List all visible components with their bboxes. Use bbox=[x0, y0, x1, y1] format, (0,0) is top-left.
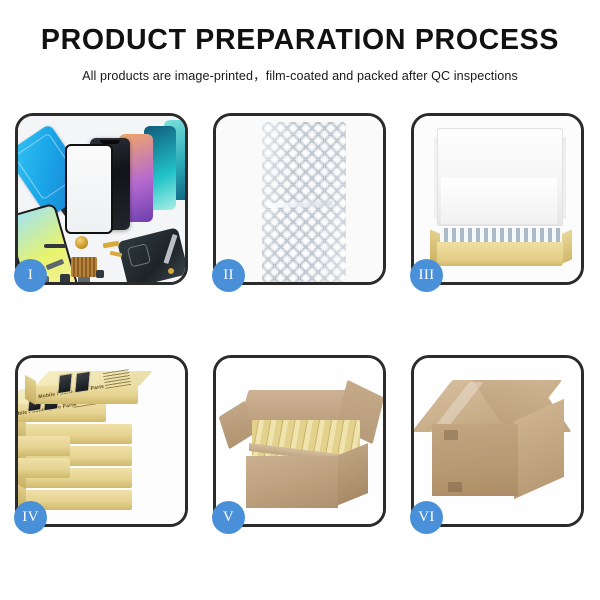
gold-flex-part bbox=[103, 241, 120, 249]
small-part-c bbox=[168, 268, 174, 274]
small-part-a bbox=[96, 270, 104, 278]
process-step-grid: I II III bbox=[15, 113, 585, 527]
step-badge-6: VI bbox=[410, 501, 443, 534]
box-artwork-screen bbox=[57, 373, 73, 395]
step-3-image bbox=[414, 116, 581, 282]
box-top-face bbox=[35, 371, 153, 386]
page-subtitle: All products are image-printed，film-coat… bbox=[0, 65, 600, 84]
speaker-part bbox=[75, 236, 88, 249]
box-artwork-screen bbox=[74, 371, 91, 394]
carton-front-face bbox=[246, 456, 338, 508]
stacked-box-labeled: Mobile Phone Spare Parts bbox=[34, 384, 138, 404]
step-badge-1: I bbox=[14, 259, 47, 292]
step-1-image bbox=[18, 116, 185, 282]
page-title: PRODUCT PREPARATION PROCESS bbox=[0, 26, 600, 56]
inner-box-front-face bbox=[437, 242, 563, 266]
process-step-6: VI bbox=[411, 355, 584, 527]
step-4-image: Mobile Phone Spare Parts Mobile Phone Sp… bbox=[18, 358, 185, 524]
process-step-3: III bbox=[411, 113, 584, 285]
step-badge-2: II bbox=[212, 259, 245, 292]
screen-glass bbox=[65, 144, 113, 234]
process-step-1: I bbox=[15, 113, 188, 285]
camera-part bbox=[60, 274, 70, 282]
stacked-box bbox=[18, 436, 70, 456]
connector-grid-part bbox=[71, 257, 97, 277]
stacked-box-labeled: Mobile Phone Spare Parts bbox=[18, 402, 106, 422]
step-badge-5: V bbox=[212, 501, 245, 534]
process-step-2: II bbox=[213, 113, 386, 285]
step-5-image bbox=[216, 358, 383, 524]
carton-hand-hole bbox=[448, 482, 462, 492]
step-badge-4: IV bbox=[14, 501, 47, 534]
box-stack: Mobile Phone Spare Parts Mobile Phone Sp… bbox=[18, 358, 185, 524]
process-step-5: V bbox=[213, 355, 386, 527]
flex-cable-part bbox=[44, 244, 66, 248]
process-step-4: Mobile Phone Spare Parts Mobile Phone Sp… bbox=[15, 355, 188, 527]
step-2-image bbox=[216, 116, 383, 282]
step-6-image bbox=[414, 358, 581, 524]
page-header: PRODUCT PREPARATION PROCESS All products… bbox=[0, 0, 600, 84]
sim-tray-part bbox=[78, 277, 90, 282]
foam-sheet bbox=[441, 178, 557, 224]
carton-hand-hole bbox=[444, 430, 458, 440]
step-badge-3: III bbox=[410, 259, 443, 292]
stacked-box bbox=[18, 458, 70, 478]
